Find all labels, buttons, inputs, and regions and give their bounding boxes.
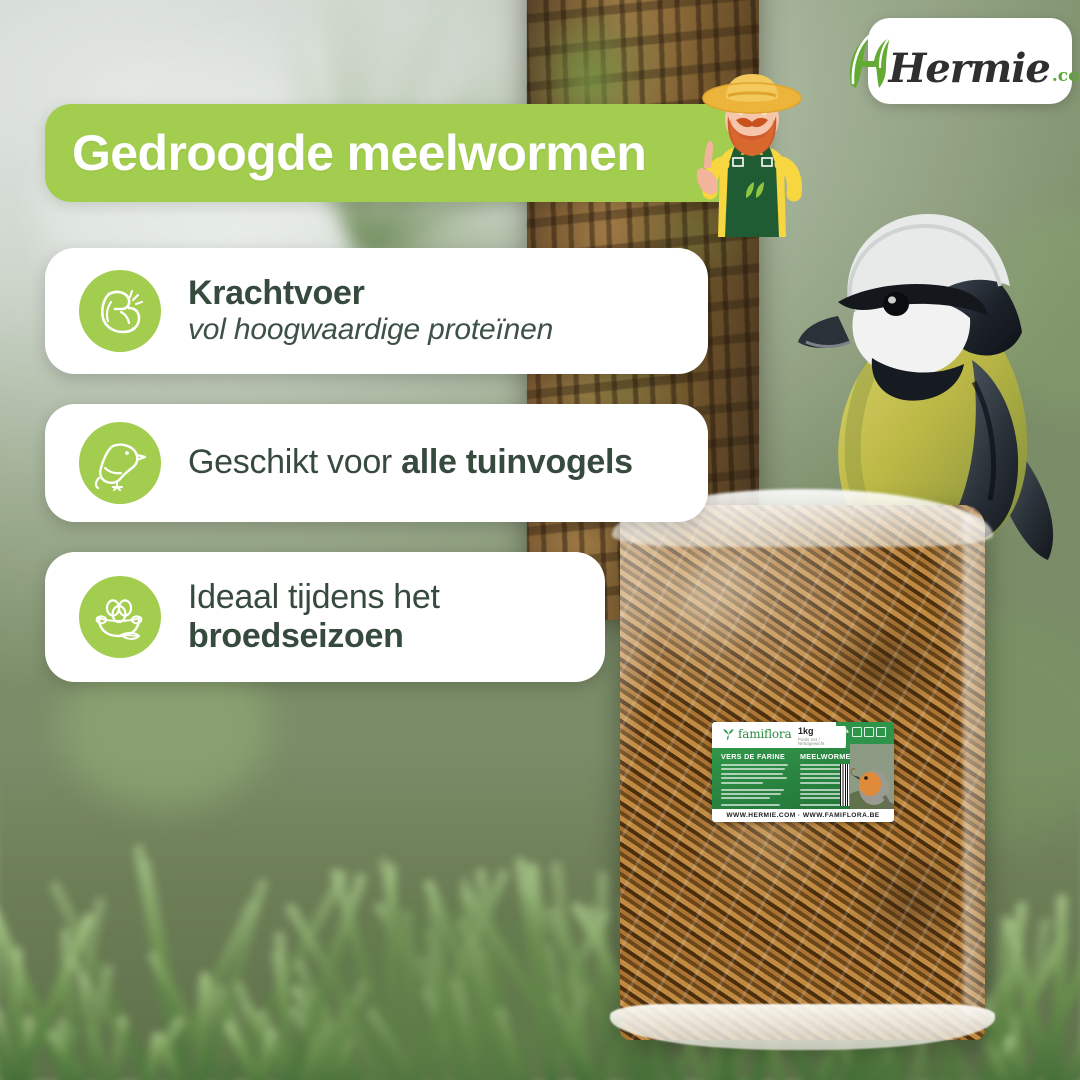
feature-subline: vol hoogwaardige proteïnen (188, 313, 553, 347)
famiflora-leaf-icon (722, 728, 735, 741)
logo-domain-suffix: .com (1052, 68, 1080, 89)
feature-line-regular: Geschikt voor (188, 443, 401, 481)
page-title: Gedroogde meelwormen (45, 124, 646, 182)
product-label: famiflora 1kg Poids net / Nettogewicht V… (712, 722, 894, 822)
nest-eggs-icon (79, 576, 161, 658)
label-title-fr: VERS DE FARINE (721, 752, 791, 761)
label-footer: WWW.HERMIE.COM · WWW.FAMIFLORA.BE (712, 809, 894, 822)
label-pictograms (852, 727, 886, 737)
label-footer-text: WWW.HERMIE.COM · WWW.FAMIFLORA.BE (726, 812, 879, 819)
feature-line-bold: alle tuinvogels (401, 443, 633, 481)
feature-card-tuinvogels[interactable]: Geschikt voor alle tuinvogels (45, 404, 708, 522)
feature-line: Geschikt voor alle tuinvogels (188, 443, 633, 482)
label-weight-badge: 1kg Poids net / Nettogewicht (794, 726, 846, 747)
famiflora-brand: famiflora (722, 727, 791, 741)
feature-headline: Krachtvoer (188, 275, 553, 312)
leaf-h-icon (843, 33, 895, 89)
label-column-fr: VERS DE FARINE (721, 752, 791, 813)
bird-icon (79, 422, 161, 504)
pictogram-icon (852, 727, 862, 737)
logo-wordmark: Hermie (889, 49, 1050, 89)
label-weight-value: 1kg (798, 727, 846, 736)
muscle-arm-icon (79, 270, 161, 352)
feature-card-broedseizoen[interactable]: Ideaal tijdens het broedseizoen (45, 552, 605, 682)
pictogram-icon (876, 727, 886, 737)
bag-side-highlight (963, 515, 985, 1018)
pictogram-icon (864, 727, 874, 737)
title-banner: Gedroogde meelwormen (45, 104, 768, 202)
famiflora-wordmark: famiflora (738, 727, 791, 741)
promo-image: Hermie .com Gedroogde meelwormen (0, 0, 1080, 1080)
label-weight-caption: Poids net / Nettogewicht (798, 738, 846, 746)
hermie-logo[interactable]: Hermie .com (868, 18, 1072, 104)
feature-line-bold: broedseizoen (188, 617, 440, 656)
feature-line-regular: Ideaal tijdens het (188, 578, 440, 617)
feature-card-krachtvoer[interactable]: Krachtvoer vol hoogwaardige proteïnen (45, 248, 708, 374)
